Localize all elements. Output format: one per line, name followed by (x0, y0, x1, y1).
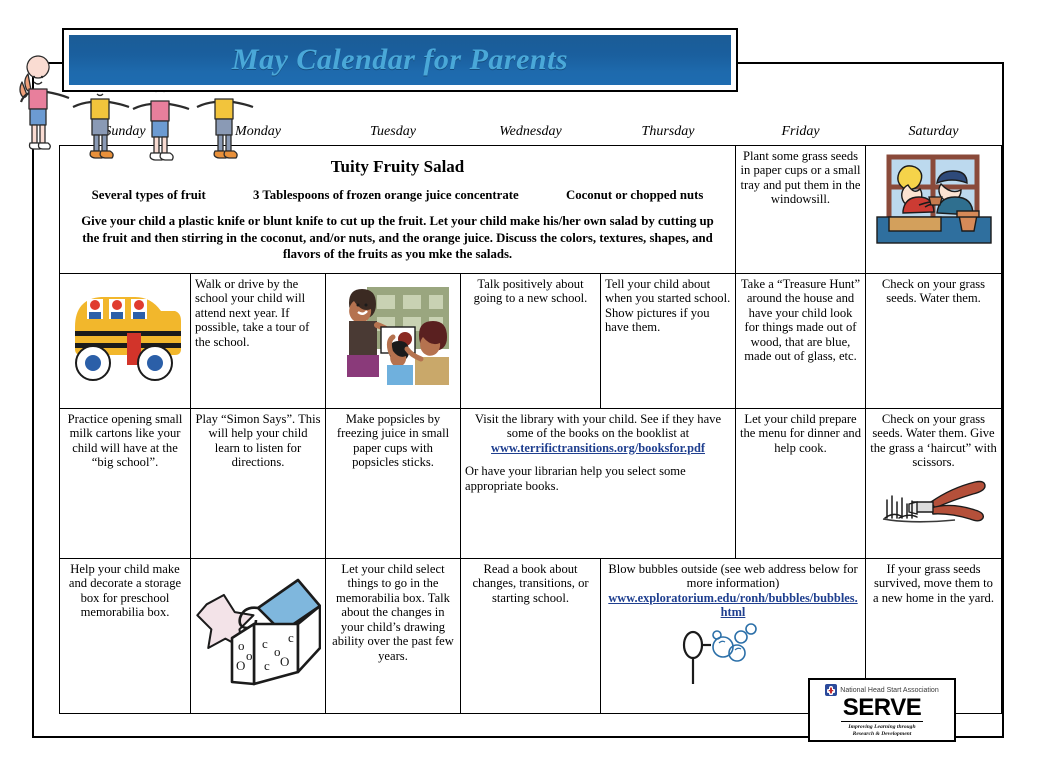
cell-row4-tuesday: Let your child select things to go in th… (326, 558, 461, 713)
title-banner: May Calendar for Parents (62, 28, 738, 92)
cell-row2-wednesday: Talk positively about going to a new sch… (461, 273, 601, 408)
cell-row2-sunday (60, 273, 191, 408)
library-followup-text: Or have your librarian help you select s… (465, 464, 731, 493)
calendar-row-2: Walk or drive by the school your child w… (60, 273, 1002, 408)
nhsa-label: National Head Start Association (840, 687, 938, 694)
cell-row1-friday: Plant some grass seeds in paper cups or … (736, 145, 866, 273)
calendar-row-1: Tuity Fruity Salad Several types of frui… (60, 145, 1002, 273)
weekday-header-monday: Monday (191, 119, 326, 145)
memorabilia-box-with-star-icon: ooO coc Oc (196, 566, 321, 686)
library-text: Visit the library with your child. See i… (465, 412, 731, 441)
cell-row4-monday: ooO coc Oc (191, 558, 326, 713)
svg-text:c: c (288, 630, 294, 645)
svg-text:c: c (262, 636, 268, 651)
recipe-ingredient-2: 3 Tablespoons of frozen orange juice con… (253, 188, 519, 203)
recipe-ingredient-1: Several types of fruit (92, 188, 206, 203)
serve-logo: National Head Start Association SERVE Im… (808, 678, 956, 742)
title-banner-fill: May Calendar for Parents (69, 35, 731, 85)
serve-tagline-line2: Research & Development (848, 731, 915, 738)
teacher-showing-picture-to-children-icon (333, 281, 453, 385)
bubble-wand-blowing-bubbles-icon (673, 623, 793, 689)
library-booklist-link[interactable]: www.terrifictransitions.org/booksfor.pdf (465, 441, 731, 455)
children-planting-seeds-by-window-icon (875, 153, 993, 253)
cell-row3-monday: Play “Simon Says”. This will help your c… (191, 408, 326, 558)
weekday-header-wednesday: Wednesday (461, 119, 601, 145)
recipe-instructions: Give your child a plastic knife or blunt… (64, 213, 731, 263)
weekday-header-saturday: Saturday (866, 119, 1002, 145)
national-head-start-association-icon (825, 684, 837, 696)
svg-text:o: o (246, 648, 253, 663)
weekday-header-row: Sunday Monday Tuesday Wednesday Thursday… (60, 119, 1002, 145)
svg-text:O: O (236, 658, 245, 673)
recipe-ingredient-3: Coconut or chopped nuts (566, 188, 703, 203)
cell-row3-sunday: Practice opening small milk cartons like… (60, 408, 191, 558)
weekday-header-friday: Friday (736, 119, 866, 145)
calendar-table: Sunday Monday Tuesday Wednesday Thursday… (59, 119, 1002, 714)
weekday-header-tuesday: Tuesday (326, 119, 461, 145)
page-title: May Calendar for Parents (232, 43, 568, 77)
cell-row3-friday: Let your child prepare the menu for dinn… (736, 408, 866, 558)
cell-row4-wednesday: Read a book about changes, transitions, … (461, 558, 601, 713)
cell-row4-sunday: Help your child make and decorate a stor… (60, 558, 191, 713)
bubbles-exploratorium-link[interactable]: www.exploratorium.edu/ronh/bubbles/bubbl… (605, 591, 861, 620)
calendar-row-3: Practice opening small milk cartons like… (60, 408, 1002, 558)
recipe-cell: Tuity Fruity Salad Several types of frui… (60, 145, 736, 273)
cell-row3-saturday: Check on your grass seeds. Water them. G… (866, 408, 1002, 558)
yellow-school-bus-icon (67, 281, 183, 385)
cell-row1-saturday (866, 145, 1002, 273)
svg-text:O: O (280, 654, 289, 669)
cell-row3-tuesday: Make popsicles by freezing juice in smal… (326, 408, 461, 558)
bubbles-text: Blow bubbles outside (see web address be… (605, 562, 861, 591)
weekday-header-thursday: Thursday (601, 119, 736, 145)
cell-row2-saturday: Check on your grass seeds. Water them. (866, 273, 1002, 408)
svg-text:o: o (238, 638, 245, 653)
calendar-page: May Calendar for Parents (0, 0, 1040, 782)
cell-row2-friday: Take a “Treasure Hunt” around the house … (736, 273, 866, 408)
serve-tagline-line1: Improving Learning through (848, 724, 915, 731)
cell-row3-library: Visit the library with your child. See i… (461, 408, 736, 558)
recipe-title: Tuity Fruity Salad (64, 157, 731, 177)
cell-row2-tuesday (326, 273, 461, 408)
cell-row3-saturday-text: Check on your grass seeds. Water them. G… (870, 412, 997, 470)
serve-wordmark: SERVE (841, 697, 923, 722)
weekday-header-sunday: Sunday (60, 119, 191, 145)
cell-row2-thursday: Tell your child about when you started s… (601, 273, 736, 408)
recipe-ingredients: Several types of fruit 3 Tablespoons of … (64, 188, 731, 203)
serve-tagline: Improving Learning through Research & De… (848, 724, 915, 738)
cell-row2-monday: Walk or drive by the school your child w… (191, 273, 326, 408)
scissors-cutting-grass-icon (879, 474, 989, 524)
svg-text:c: c (264, 658, 270, 673)
